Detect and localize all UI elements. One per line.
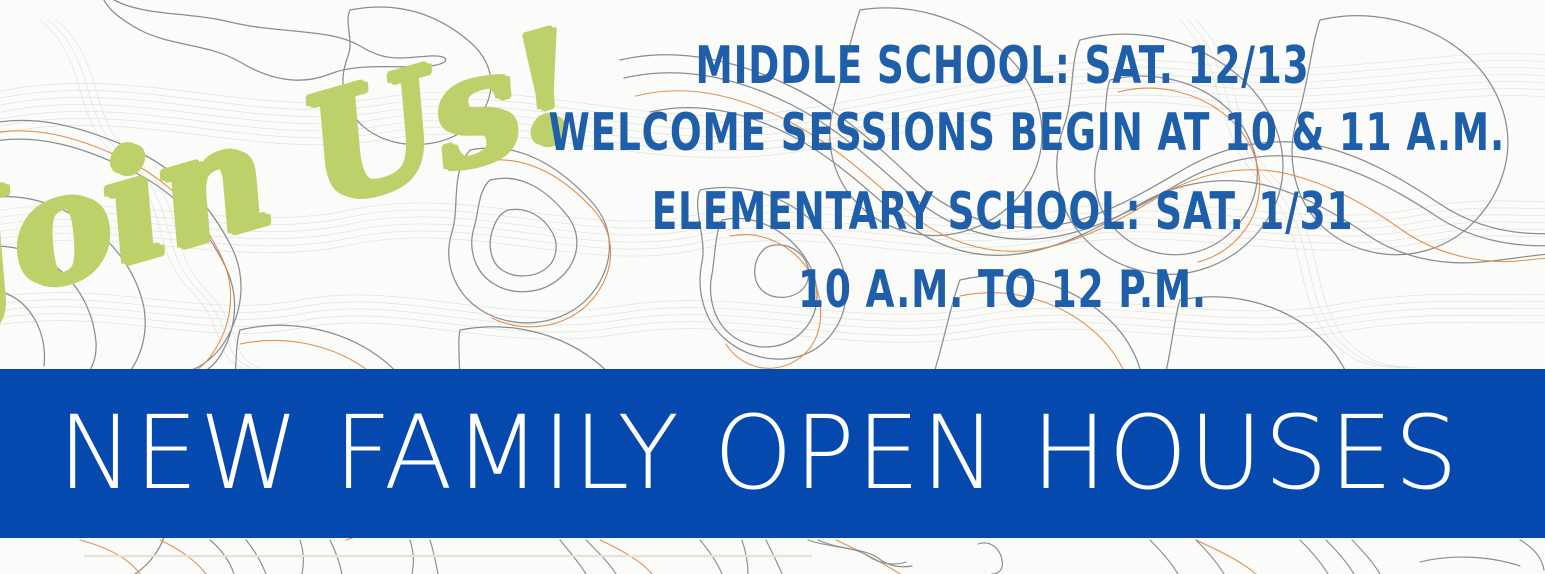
detail-line-middle-school-date: MIDDLE SCHOOL: SAT. 12/13 [549,38,1457,94]
banner-title: NEW FAMILY OPEN HOUSES [58,403,1459,505]
detail-line-elementary-school-date: ELEMENTARY SCHOOL: SAT. 1/31 [549,173,1457,251]
detail-line-elementary-hours: 10 A.M. TO 12 P.M. [549,251,1457,330]
event-details-block: MIDDLE SCHOOL: SAT. 12/13 WELCOME SESSIO… [440,38,1545,330]
open-house-banner-graphic: Join Us! MIDDLE SCHOOL: SAT. 12/13 WELCO… [0,0,1545,574]
headline-banner: NEW FAMILY OPEN HOUSES [0,369,1545,538]
detail-line-welcome-sessions: WELCOME SESSIONS BEGIN AT 10 & 11 A.M. [549,94,1457,173]
